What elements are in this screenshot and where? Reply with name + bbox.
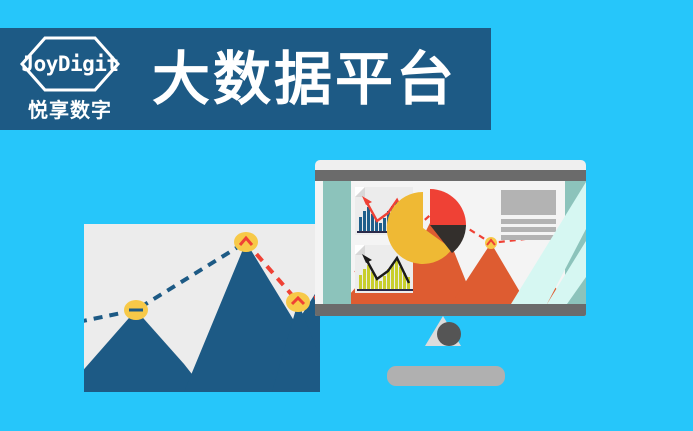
brand-logo: JoyDigit 悦享数字 <box>10 33 130 125</box>
monitor-screen <box>315 181 586 304</box>
text-block-widget <box>501 190 556 240</box>
trend-node <box>286 292 310 312</box>
screen-glass-right <box>565 181 586 304</box>
monitor-base <box>387 366 505 386</box>
logo-chinese-text: 悦享数字 <box>28 94 112 123</box>
monitor-bottom-bar <box>315 304 586 316</box>
header-banner: JoyDigit 悦享数字 大数据平台 <box>0 28 491 130</box>
mountain-trend-panel <box>84 224 320 392</box>
page-title: 大数据平台 <box>152 50 457 108</box>
logo-latin-text: JoyDigit <box>17 35 123 93</box>
desktop-monitor <box>315 160 586 316</box>
illustration-stage: JoyDigit 悦享数字 大数据平台 <box>0 0 693 431</box>
trend-node <box>234 232 258 252</box>
dashboard-content <box>351 181 565 304</box>
mountain-shape <box>84 310 206 392</box>
monitor-camera-icon <box>437 322 461 346</box>
screen-glass-left <box>323 181 351 304</box>
monitor-top-bar <box>315 170 586 181</box>
logo-hexagon-icon: JoyDigit <box>17 35 123 93</box>
